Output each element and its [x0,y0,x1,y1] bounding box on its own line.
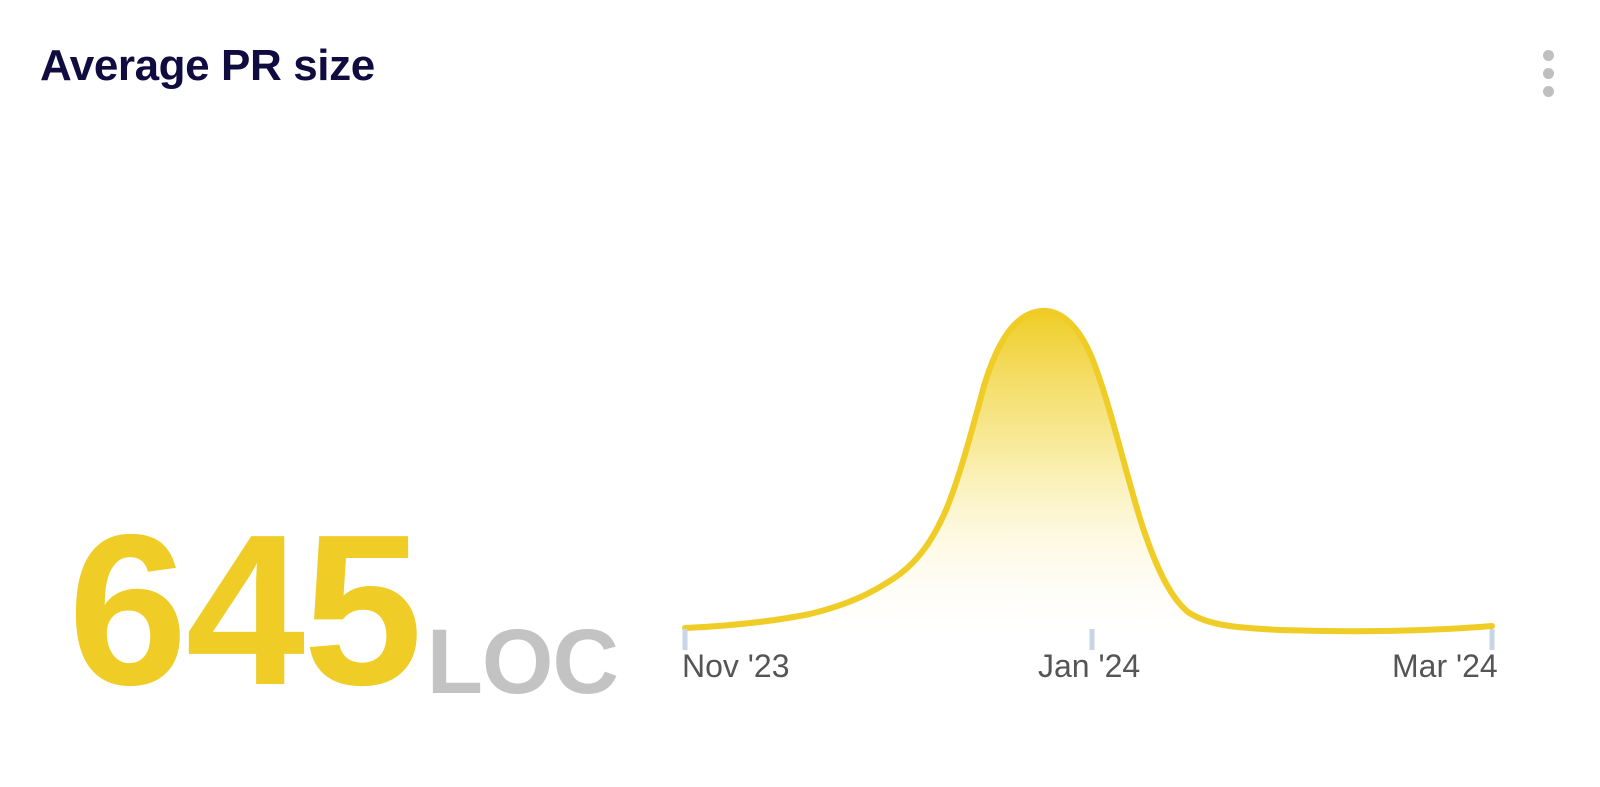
metric-block: 645 LOC [68,518,618,703]
metric-value: 645 [68,518,421,703]
metric-unit: LOC [427,624,618,703]
chart-area-fill [685,311,1492,631]
average-pr-size-card: Average PR size 645 LOC [0,0,1600,787]
average-pr-size-chart[interactable] [660,250,1560,670]
kebab-dot-3 [1543,86,1554,97]
axis-label-mar-24: Mar '24 [1392,648,1498,685]
page-title: Average PR size [40,44,375,88]
chart-axis-labels: Nov '23 Jan '24 Mar '24 [660,648,1560,696]
kebab-dot-1 [1543,50,1554,61]
axis-label-nov-23: Nov '23 [682,648,790,685]
axis-label-jan-24: Jan '24 [1038,648,1140,685]
chart-svg [660,250,1560,670]
kebab-menu-icon[interactable] [1530,42,1566,98]
kebab-dot-2 [1543,68,1554,79]
